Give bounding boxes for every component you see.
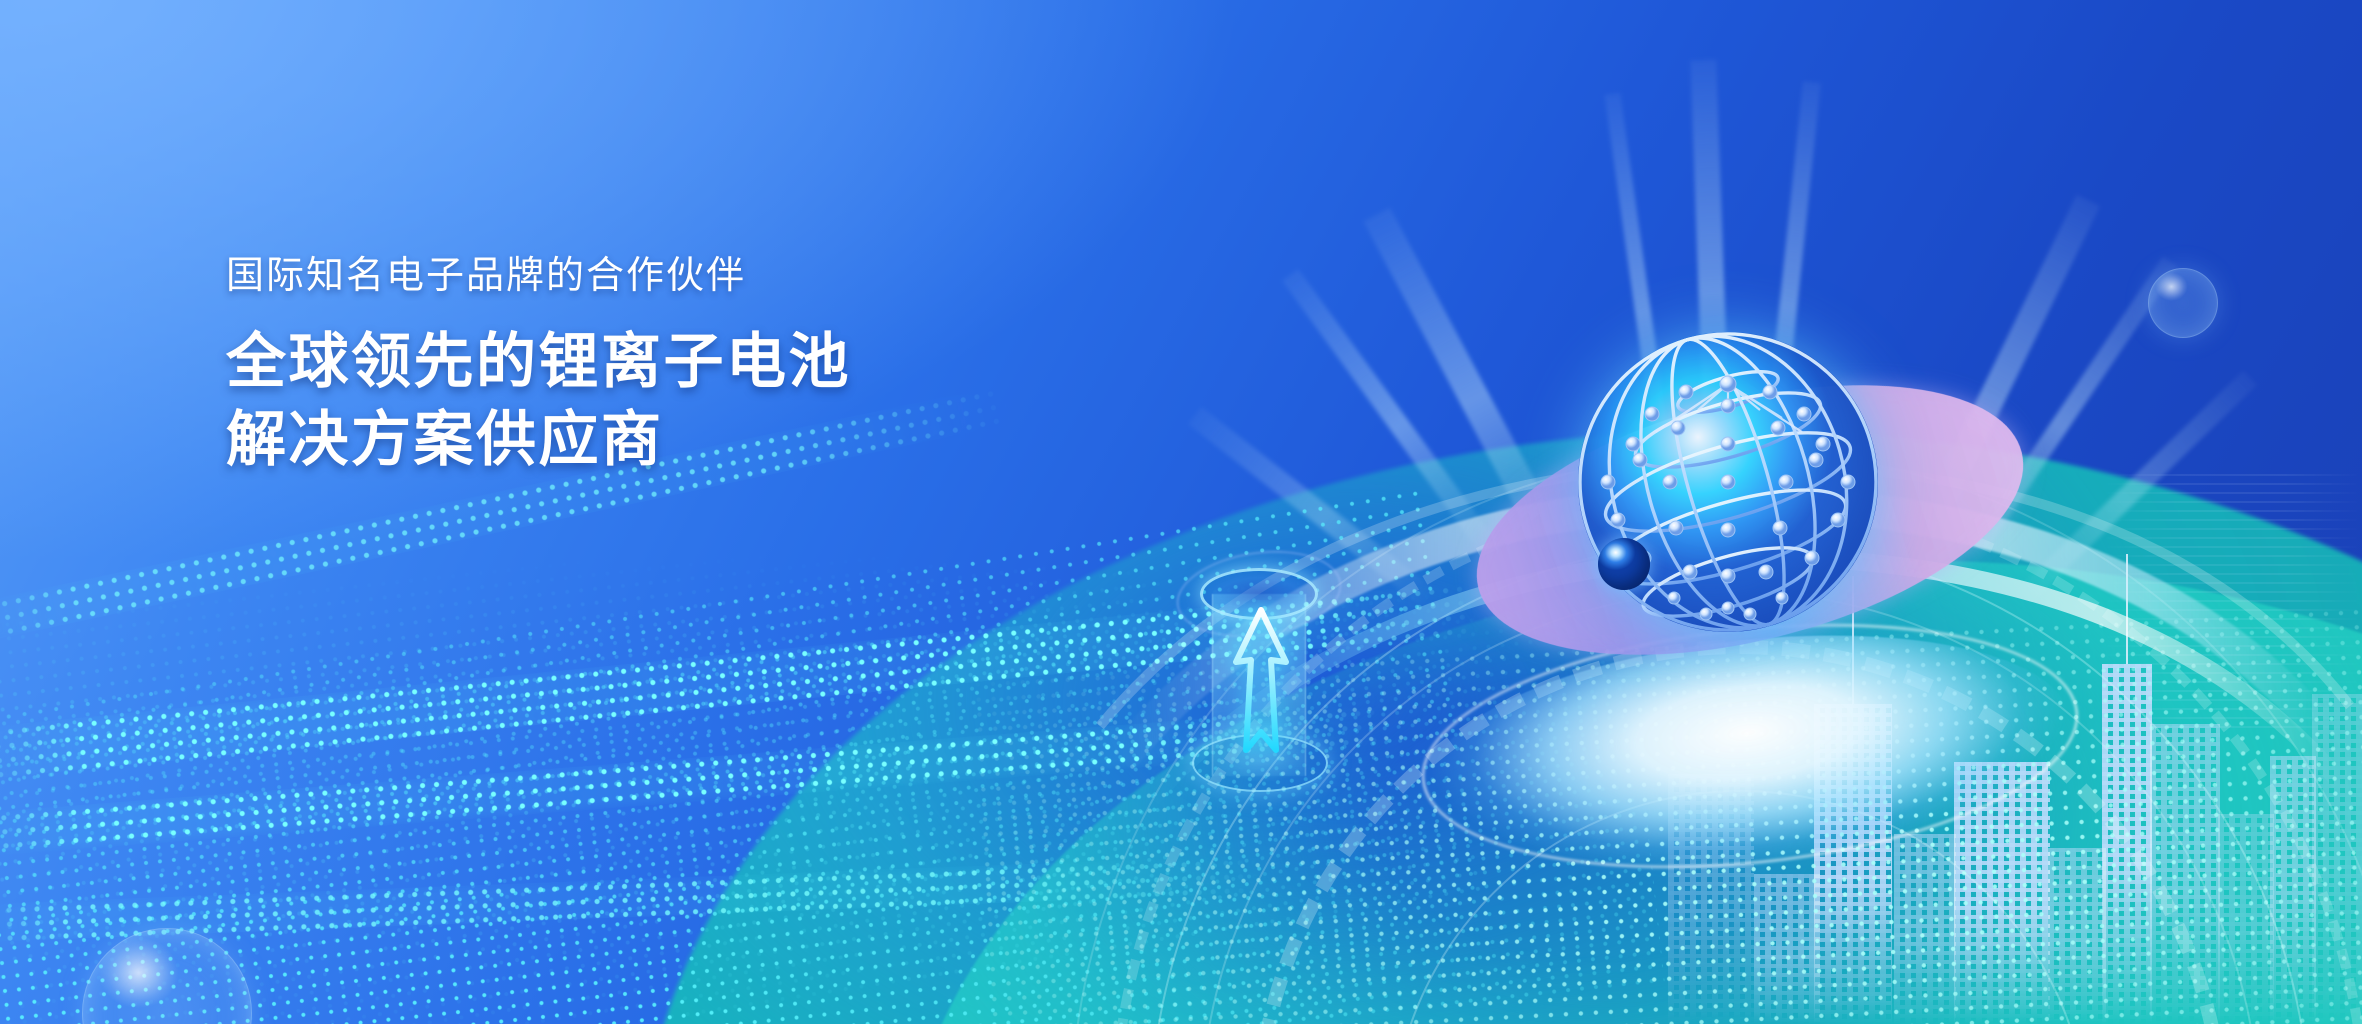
neon-cursor-arrow[interactable] — [1216, 600, 1306, 770]
orbit-bead-sphere — [1598, 538, 1650, 590]
cursor-arrow-path — [1236, 610, 1286, 750]
banner-subtitle: 国际知名电子品牌的合作伙伴 — [226, 252, 1126, 301]
hero-banner: 国际知名电子品牌的合作伙伴 全球领先的锂离子电池 解决方案供应商 — [0, 0, 2362, 1024]
banner-headline-line-1: 全球领先的锂离子电池 — [226, 323, 1126, 401]
banner-headline-line-2: 解决方案供应商 — [226, 401, 1126, 479]
hero-copy: 国际知名电子品牌的合作伙伴 全球领先的锂离子电池 解决方案供应商 — [226, 252, 1126, 479]
glass-bubble — [2148, 268, 2218, 338]
